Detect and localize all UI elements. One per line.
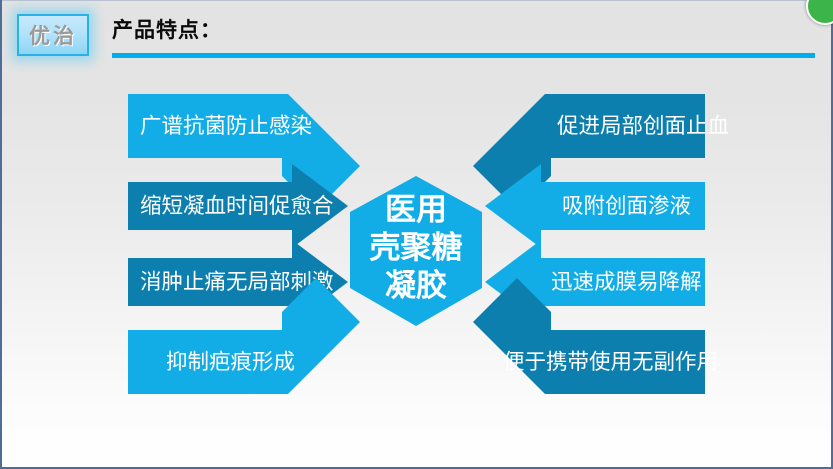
arrow-left-4-label: 抑制疤痕形成 xyxy=(166,350,295,375)
brand-logo-label: 优治 xyxy=(29,20,77,50)
arrow-right-4-label: 便于携带使用无副作用 xyxy=(503,350,718,375)
arrow-right-2-label: 吸附创面渗液 xyxy=(562,194,691,219)
center-hexagon-line-1: 医用 xyxy=(385,192,447,228)
header-underline-rule xyxy=(112,53,815,58)
slide-bottom-band xyxy=(2,431,831,467)
page-title: 产品特点： xyxy=(112,14,222,44)
center-hexagon-line-3: 凝胶 xyxy=(385,268,447,304)
arrow-left-1-label: 广谱抗菌防止感染 xyxy=(140,114,312,139)
arrow-right-3-label: 迅速成膜易降解 xyxy=(551,270,702,295)
product-features-diagram: 广谱抗菌防止感染 缩短凝血时间促愈合 消肿止痛无局部刺激 抑制疤痕形成 促进局部… xyxy=(0,68,833,428)
arrow-right-1-label: 促进局部创面止血 xyxy=(557,114,729,139)
window-border-top xyxy=(0,0,833,1)
center-hexagon[interactable]: 医用 壳聚糖 凝胶 xyxy=(350,176,482,326)
arrow-left-2-label: 缩短凝血时间促愈合 xyxy=(140,194,334,219)
center-hexagon-line-2: 壳聚糖 xyxy=(370,230,463,266)
recording-indicator-icon xyxy=(806,0,833,25)
slide-canvas: 优治 产品特点： 广谱抗菌防止感染 缩短凝血时间促愈合 消肿止痛无局部刺激 抑制… xyxy=(0,0,833,469)
brand-logo-badge: 优治 xyxy=(17,14,89,56)
